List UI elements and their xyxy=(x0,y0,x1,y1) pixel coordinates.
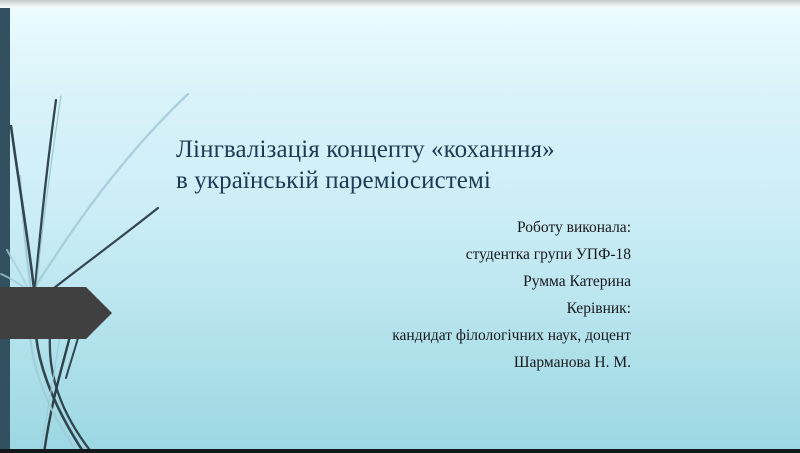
bottom-edge-strip xyxy=(0,449,800,453)
arrow-banner-icon xyxy=(0,287,112,339)
page-title: Лінгвалізація концепту «коханння» в укра… xyxy=(176,134,646,196)
subtitle-line: студентка групи УПФ-18 xyxy=(230,241,631,268)
subtitle-line: Шарманова Н. М. xyxy=(230,349,631,376)
subtitle-line: Керівник: xyxy=(230,295,631,322)
subtitle-line: Румма Катерина xyxy=(230,268,631,295)
subtitle-line: кандидат філологічних наук, доцент xyxy=(230,322,631,349)
vertical-band-icon xyxy=(0,8,10,449)
top-edge-strip xyxy=(0,0,800,8)
subtitle-block: Роботу виконала: студентка групи УПФ-18 … xyxy=(230,214,631,376)
presentation-slide: Лінгвалізація концепту «коханння» в укра… xyxy=(0,0,800,453)
subtitle-line: Роботу виконала: xyxy=(230,214,631,241)
